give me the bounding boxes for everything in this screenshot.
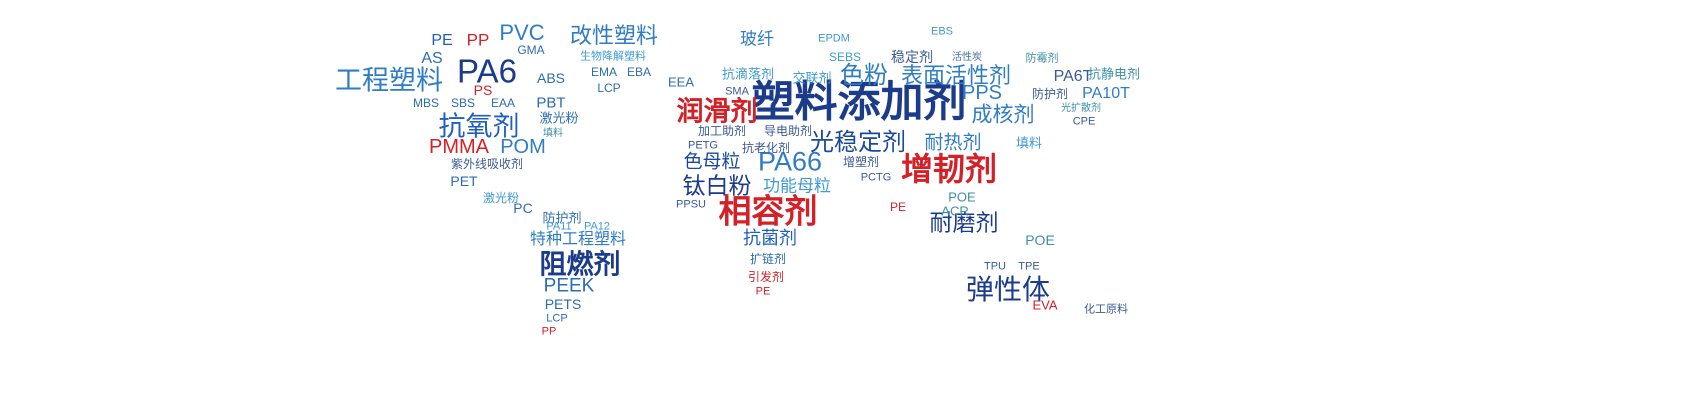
wordcloud-word[interactable]: SEBS xyxy=(829,51,861,63)
wordcloud-word[interactable]: POM xyxy=(500,137,546,157)
wordcloud-word[interactable]: PP xyxy=(542,327,557,338)
wordcloud-word[interactable]: 功能母粒 xyxy=(763,178,831,195)
wordcloud-word[interactable]: 钛白粉 xyxy=(683,175,752,198)
wordcloud-word[interactable]: 防护剂 xyxy=(1032,88,1068,100)
wordcloud-word[interactable]: EMA xyxy=(591,66,617,78)
wordcloud-word[interactable]: EAA xyxy=(491,97,515,109)
wordcloud-word[interactable]: 相容剂 xyxy=(719,195,818,228)
wordcloud-word[interactable]: 增韧剂 xyxy=(901,153,997,185)
wordcloud-word[interactable]: LCP xyxy=(546,314,567,325)
wordcloud-word[interactable]: PE xyxy=(890,201,906,213)
wordcloud-word[interactable]: 耐热剂 xyxy=(924,134,981,153)
wordcloud-word[interactable]: 激光粉 xyxy=(539,112,578,125)
wordcloud-word[interactable]: PPSU xyxy=(676,200,706,211)
wordcloud-word[interactable]: PA6T xyxy=(1054,69,1093,85)
wordcloud-word[interactable]: PET xyxy=(450,174,477,188)
wordcloud-word[interactable]: PVC xyxy=(499,22,544,44)
wordcloud-word[interactable]: 稳定剂 xyxy=(891,50,933,64)
wordcloud-word[interactable]: 抗静电剂 xyxy=(1088,68,1140,81)
wordcloud-word[interactable]: EVA xyxy=(1032,299,1057,312)
wordcloud-word[interactable]: 抗滴落剂 xyxy=(722,68,774,81)
wordcloud-word[interactable]: ACR xyxy=(941,205,968,218)
wordcloud-word[interactable]: 交联剂 xyxy=(792,72,831,85)
wordcloud-word[interactable]: EBS xyxy=(931,27,953,38)
wordcloud-word[interactable]: 生物降解塑料 xyxy=(580,52,646,63)
wordcloud-word[interactable]: 填料 xyxy=(543,129,563,139)
wordcloud-word[interactable]: 工程塑料 xyxy=(335,68,443,95)
wordcloud-word[interactable]: 光扩散剂 xyxy=(1061,104,1101,114)
wordcloud-word[interactable]: 活性炭 xyxy=(952,53,982,63)
wordcloud-word[interactable]: 玻纤 xyxy=(740,31,774,48)
wordcloud-canvas: 塑料添加剂相容剂增韧剂阻燃剂工程塑料抗氧剂PA6润滑剂弹性体光稳定剂表面活性剂耐… xyxy=(0,0,1707,400)
wordcloud-word[interactable]: 润滑剂 xyxy=(677,99,758,126)
wordcloud-word[interactable]: TPE xyxy=(1018,262,1039,273)
wordcloud-word[interactable]: SBS xyxy=(451,97,475,109)
wordcloud-word[interactable]: GMA xyxy=(517,44,544,56)
wordcloud-word[interactable]: 导电助剂 xyxy=(764,125,812,137)
wordcloud-word[interactable]: CPE xyxy=(1073,117,1096,128)
wordcloud-word[interactable]: 紫外线吸收剂 xyxy=(451,158,523,170)
wordcloud-word[interactable]: PC xyxy=(513,201,532,215)
wordcloud-word[interactable]: 增塑剂 xyxy=(843,156,879,168)
wordcloud-word[interactable]: SMA xyxy=(725,87,749,98)
wordcloud-word[interactable]: PCTG xyxy=(861,173,892,184)
wordcloud-word[interactable]: 特种工程塑料 xyxy=(530,232,626,248)
wordcloud-word[interactable]: 光稳定剂 xyxy=(810,131,906,155)
wordcloud-word[interactable]: 色粉 xyxy=(840,64,888,88)
wordcloud-word[interactable]: PA11 xyxy=(546,222,571,233)
wordcloud-word[interactable]: 阻燃剂 xyxy=(540,252,621,279)
wordcloud-word[interactable]: AS xyxy=(421,51,442,67)
wordcloud-word[interactable]: 填料 xyxy=(1016,137,1042,150)
wordcloud-word[interactable]: 扩链剂 xyxy=(750,253,786,265)
wordcloud-word[interactable]: PETG xyxy=(688,141,718,152)
wordcloud-word[interactable]: 抗菌剂 xyxy=(743,229,797,247)
wordcloud-word[interactable]: PA12 xyxy=(584,222,610,233)
wordcloud-word[interactable]: 成核剂 xyxy=(972,105,1035,126)
wordcloud-word[interactable]: ABS xyxy=(537,71,565,85)
wordcloud-word[interactable]: TPU xyxy=(984,262,1006,273)
wordcloud-word[interactable]: 改性塑料 xyxy=(570,25,658,47)
wordcloud-word[interactable]: PEEK xyxy=(544,277,595,296)
wordcloud-word[interactable]: EEA xyxy=(668,76,694,89)
wordcloud-word[interactable]: 色母粒 xyxy=(683,153,740,172)
wordcloud-word[interactable]: 防霉剂 xyxy=(1026,54,1059,65)
wordcloud-word[interactable]: PBT xyxy=(536,96,565,111)
wordcloud-word[interactable]: 引发剂 xyxy=(748,271,784,283)
wordcloud-word[interactable]: MBS xyxy=(413,97,439,109)
wordcloud-word[interactable]: 加工助剂 xyxy=(698,125,746,137)
wordcloud-word[interactable]: POE xyxy=(948,191,975,204)
wordcloud-word[interactable]: PP xyxy=(467,32,490,49)
wordcloud-word[interactable]: 化工原料 xyxy=(1084,305,1128,316)
wordcloud-word[interactable]: POE xyxy=(1025,233,1055,247)
wordcloud-word[interactable]: PETS xyxy=(545,297,582,311)
wordcloud-word[interactable]: PMMA xyxy=(429,137,489,157)
wordcloud-word[interactable]: PA10T xyxy=(1082,86,1130,102)
wordcloud-word[interactable]: 抗老化剂 xyxy=(742,142,790,154)
wordcloud-word[interactable]: PPS xyxy=(962,83,1002,103)
wordcloud-word[interactable]: PE xyxy=(431,33,452,49)
wordcloud-word[interactable]: PS xyxy=(474,83,493,97)
wordcloud-word[interactable]: PE xyxy=(756,287,771,298)
wordcloud-word[interactable]: EBA xyxy=(627,66,651,78)
wordcloud-word[interactable]: LCP xyxy=(597,82,620,94)
wordcloud-word[interactable]: EPDM xyxy=(818,34,850,45)
